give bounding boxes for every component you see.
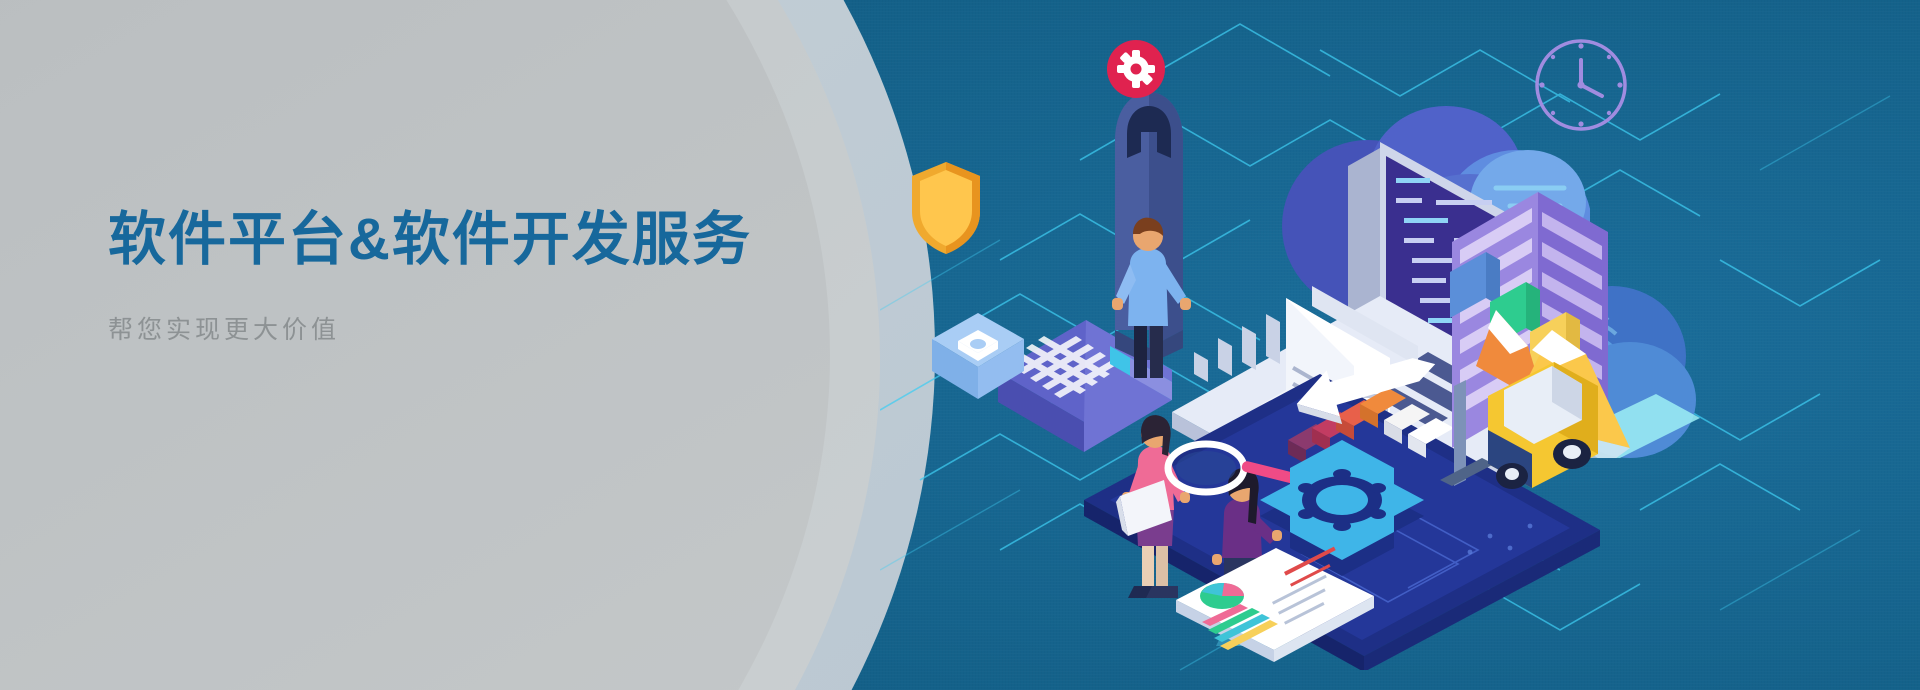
shield-icon [910, 160, 982, 256]
gear-badge-wrap [1105, 38, 1167, 105]
report-card [1166, 530, 1386, 680]
camera-icon[interactable] [924, 295, 1034, 415]
page-title: 软件平台&软件开发服务 [108, 206, 868, 274]
forklift-icon [1426, 334, 1636, 524]
page-subtitle: 帮您实现更大价值 [108, 310, 868, 346]
hero-banner: 软件平台&软件开发服务 帮您实现更大价值 [0, 0, 1920, 690]
hero-illustration [880, 10, 1920, 690]
gear-badge-icon [1105, 38, 1167, 100]
hero-copy: 软件平台&软件开发服务 帮您实现更大价值 [108, 206, 868, 346]
